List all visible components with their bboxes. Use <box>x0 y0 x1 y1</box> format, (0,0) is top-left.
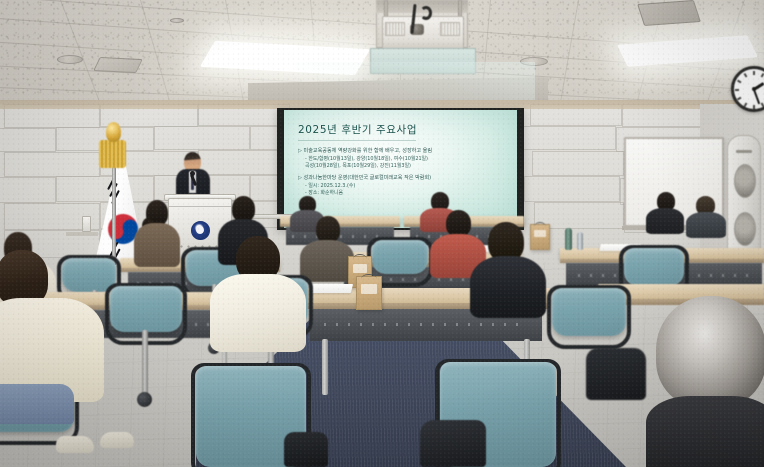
chair-backrest <box>624 248 684 286</box>
desk-leg <box>322 339 328 395</box>
seated-attendee-foreground <box>0 250 112 410</box>
attendee-head <box>446 210 471 237</box>
seated-attendee-foreground <box>646 296 764 467</box>
ceiling-speaker-right <box>520 57 548 66</box>
floor-backpack <box>420 420 486 467</box>
floor-backpack <box>586 348 646 400</box>
aircon-vent-upper <box>734 164 756 198</box>
slide-bullet-1: ▷ 미술교육공동체 역량강화를 위한 함께 배우고, 성장하고 울림 <box>298 148 507 156</box>
classroom-photo-scene: 2025년 후반기 주요사업 ▷ 미술교육공동체 역량강화를 위한 함께 배우고… <box>0 0 764 467</box>
chair <box>552 288 626 336</box>
tumbler <box>577 232 583 250</box>
attendee-jeans <box>0 384 74 424</box>
attendee-torso <box>686 212 726 238</box>
attendee-torso <box>646 208 684 234</box>
chair-backrest <box>110 286 182 332</box>
projector-lift-tray <box>370 48 476 74</box>
projector-vent-left <box>385 22 405 36</box>
shoe <box>100 432 134 448</box>
seated-attendee-foreground <box>210 236 306 344</box>
paper-bag-label <box>353 264 368 273</box>
slide-bullet-4: ▷ 성과나눔한마당 운영(대한민국 글로컬미래교육 작은 박람회) <box>298 175 507 183</box>
seated-attendee <box>134 200 180 262</box>
projector-cable-loop <box>420 6 432 20</box>
chair-backrest <box>372 240 428 274</box>
aircon-logo <box>736 150 752 153</box>
seated-attendee <box>300 216 354 276</box>
ceiling-sprinkler <box>170 18 184 23</box>
projector-vent-right <box>440 22 460 36</box>
paper-bag <box>356 276 382 310</box>
flag-finial-icon <box>106 122 121 142</box>
flag-fringe <box>99 140 126 168</box>
ceiling-vent-right <box>637 0 701 26</box>
wall-clock <box>731 66 764 112</box>
attendee-torso <box>134 223 180 267</box>
water-bottle <box>565 228 572 250</box>
attendee-head <box>656 296 764 408</box>
slide-bullet-6: - 장소: 화순하니움 <box>305 190 507 197</box>
attendee-torso <box>470 256 546 318</box>
ceiling-speaker-left <box>57 55 83 64</box>
attendee-torso <box>210 274 306 352</box>
chair <box>372 240 428 274</box>
handout-papers <box>309 284 353 293</box>
attendee-head <box>316 216 340 243</box>
aircon-vent-lower <box>734 212 756 246</box>
wall-shelf <box>66 232 98 236</box>
shoe <box>56 436 94 453</box>
clock-face <box>734 69 764 109</box>
wall-sensor-box <box>82 216 91 232</box>
chair-post <box>142 330 148 396</box>
attendee-torso <box>646 396 764 467</box>
slide-title-rule <box>298 140 416 141</box>
chair <box>624 248 684 286</box>
ceiling-projector <box>370 0 476 76</box>
slide-title: 2025년 후반기 주요사업 <box>298 122 507 137</box>
chair-backrest <box>552 288 626 336</box>
clock-center-pin <box>752 87 756 91</box>
floor-bag <box>284 432 328 467</box>
paper-bag-label <box>361 284 377 294</box>
microphone-head-icon <box>190 171 195 176</box>
seated-attendee <box>686 196 726 234</box>
ceiling-vent-left <box>93 57 143 73</box>
chair-caster <box>137 392 152 407</box>
institution-emblem-icon <box>191 221 210 240</box>
clock-minute-hand <box>753 89 760 105</box>
slide-bullet-5: - 일시: 2025.12.3.(수) <box>305 183 507 190</box>
seated-attendee <box>646 192 684 228</box>
chair <box>110 286 182 332</box>
seated-attendee <box>470 222 546 312</box>
slide-bullet-3: 곡성(10월28일), 목포(10월29일), 강진(11월3일) <box>305 163 507 170</box>
attendee-torso <box>300 240 354 282</box>
